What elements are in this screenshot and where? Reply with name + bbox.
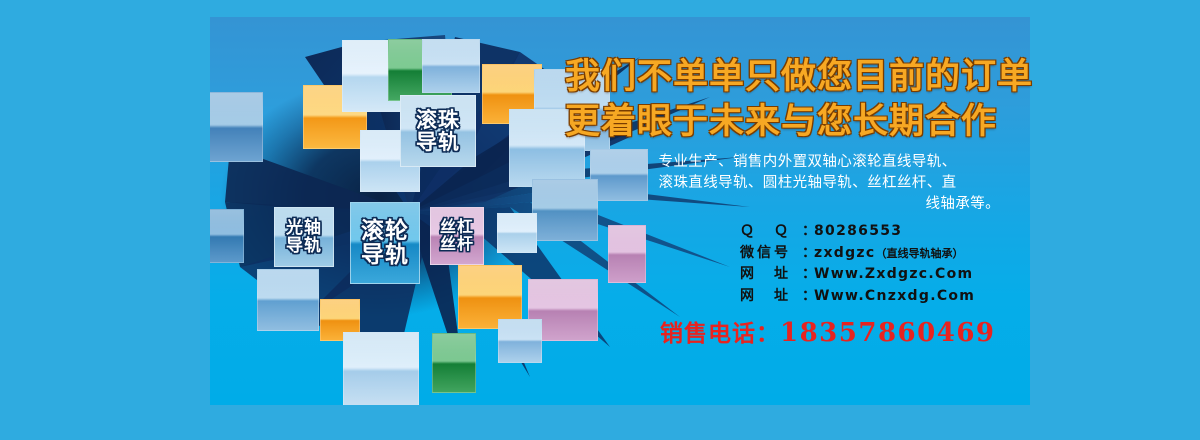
decor-cube — [257, 269, 319, 331]
contact-key: 网 址 — [740, 264, 802, 286]
product-cube-guangzhou-daogui[interactable]: 光轴 导轨 — [274, 207, 334, 267]
contact-row-qq[interactable]: Ｑ Ｑ ： 80286553 — [740, 221, 975, 243]
contact-value-website-1: Www.Zxdgzc.Com — [814, 264, 973, 286]
decor-cube — [210, 92, 263, 162]
headline-line-2: 更着眼于未来与您长期合作 — [565, 93, 997, 144]
contact-row-website-1[interactable]: 网 址 ： Www.Zxdgzc.Com — [740, 264, 975, 286]
description-line-2: 滚珠直线导轨、圆柱光轴导轨、丝杠丝杆、直 — [615, 173, 1000, 194]
product-cube-gunlun-daogui[interactable]: 滚轮 导轨 — [350, 202, 420, 284]
contact-key: Ｑ Ｑ — [740, 221, 802, 243]
sales-phone-label: 销售电话： — [660, 321, 780, 347]
product-cube-line2: 导轨 — [416, 131, 460, 153]
decor-cube — [497, 213, 537, 253]
contact-colon: ： — [802, 243, 814, 265]
sales-phone-number: 18357860469 — [780, 318, 996, 348]
contact-value-website-2: Www.Cnzxdg.Com — [814, 286, 975, 308]
product-cube-line1: 滚轮 — [361, 219, 409, 243]
product-cube-gunzhu-daogui[interactable]: 滚珠 导轨 — [400, 95, 476, 167]
decor-cube — [210, 209, 244, 263]
contact-row-wechat[interactable]: 微信号 ： zxdgzc （直线导轨轴承） — [740, 243, 975, 265]
product-cube-line1: 滚珠 — [416, 109, 460, 131]
contact-colon: ： — [802, 264, 814, 286]
description-line-3: 线轴承等。 — [615, 194, 1000, 215]
contact-value-qq: 80286553 — [814, 221, 902, 243]
decor-cube-green — [432, 333, 476, 393]
contact-key: 网 址 — [740, 286, 802, 308]
product-cube-line2: 丝杆 — [440, 236, 474, 253]
decor-cube — [343, 332, 419, 405]
product-cube-sigang-sigan[interactable]: 丝杠 丝杆 — [430, 207, 484, 265]
product-cube-line2: 导轨 — [361, 243, 409, 267]
sales-phone-block[interactable]: 销售电话：18357860469 — [660, 314, 996, 348]
contact-colon: ： — [802, 221, 814, 243]
contact-note-wechat: （直线导轨轴承） — [875, 243, 963, 265]
description-line-1: 专业生产、销售内外置双轴心滚轮直线导轨、 — [615, 152, 1000, 173]
banner-text-column: 我们不单单只做您目前的订单 更着眼于未来与您长期合作 专业生产、销售内外置双轴心… — [540, 0, 1200, 440]
headline-line-1: 我们不单单只做您目前的订单 — [565, 48, 1033, 99]
contact-key: 微信号 — [740, 243, 802, 265]
description-block: 专业生产、销售内外置双轴心滚轮直线导轨、 滚珠直线导轨、圆柱光轴导轨、丝杠丝杆、… — [615, 152, 1000, 215]
product-cube-line1: 光轴 — [286, 219, 322, 237]
contact-value-wechat: zxdgzc — [814, 243, 875, 265]
contact-row-website-2[interactable]: 网 址 ： Www.Cnzxdg.Com — [740, 286, 975, 308]
decor-cube — [498, 319, 542, 363]
product-cube-line2: 导轨 — [286, 237, 322, 255]
contact-colon: ： — [802, 286, 814, 308]
decor-cube — [422, 39, 480, 93]
contact-info-block: Ｑ Ｑ ： 80286553 微信号 ： zxdgzc （直线导轨轴承） 网 址… — [740, 221, 975, 307]
promotional-banner: 滚珠 导轨 光轴 导轨 滚轮 导轨 丝杠 丝杆 — [0, 0, 1200, 440]
